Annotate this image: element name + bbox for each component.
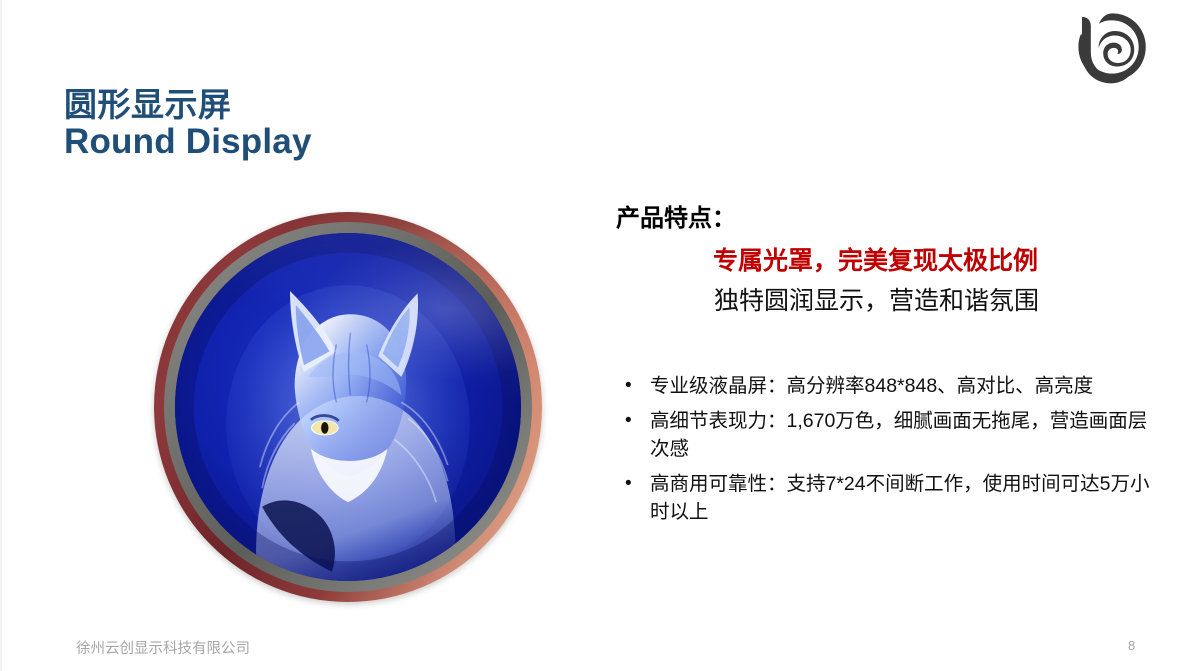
list-item: • 高细节表现力：1,670万色，细腻画面无拖尾，营造画面层次感 <box>620 407 1156 463</box>
company-swirl-logo <box>1059 8 1151 86</box>
list-item: • 高商用可靠性：支持7*24不间断工作，使用时间可达5万小时以上 <box>620 470 1156 526</box>
page-title-en: Round Display <box>64 124 312 160</box>
feature-headline-secondary: 独特圆润显示，营造和谐氛围 <box>714 281 1039 317</box>
round-display-product-photo <box>154 212 542 602</box>
list-item: • 专业级液晶屏：高分辨率848*848、高对比、高亮度 <box>620 372 1156 400</box>
list-item-label: 专业级液晶屏：高分辨率848*848、高对比、高亮度 <box>650 372 1156 400</box>
list-item-label: 高细节表现力：1,670万色，细腻画面无拖尾，营造画面层次感 <box>650 407 1156 463</box>
footer-company-name: 徐州云创显示科技有限公司 <box>76 637 250 658</box>
display-screen <box>175 233 521 581</box>
bullet-marker-icon: • <box>620 407 650 435</box>
slide-canvas: 圆形显示屏 Round Display <box>0 0 1186 671</box>
feature-bullet-list: • 专业级液晶屏：高分辨率848*848、高对比、高亮度 • 高细节表现力：1,… <box>620 372 1156 533</box>
bullet-marker-icon: • <box>620 470 650 498</box>
bullet-marker-icon: • <box>620 372 650 400</box>
list-item-label: 高商用可靠性：支持7*24不间断工作，使用时间可达5万小时以上 <box>650 470 1156 526</box>
page-title: 圆形显示屏 Round Display <box>64 88 312 161</box>
page-title-cn: 圆形显示屏 <box>64 88 312 122</box>
feature-headline-primary: 专属光罩，完美复现太极比例 <box>713 241 1038 277</box>
footer-page-number: 8 <box>1128 638 1135 653</box>
features-heading: 产品特点： <box>616 198 736 233</box>
